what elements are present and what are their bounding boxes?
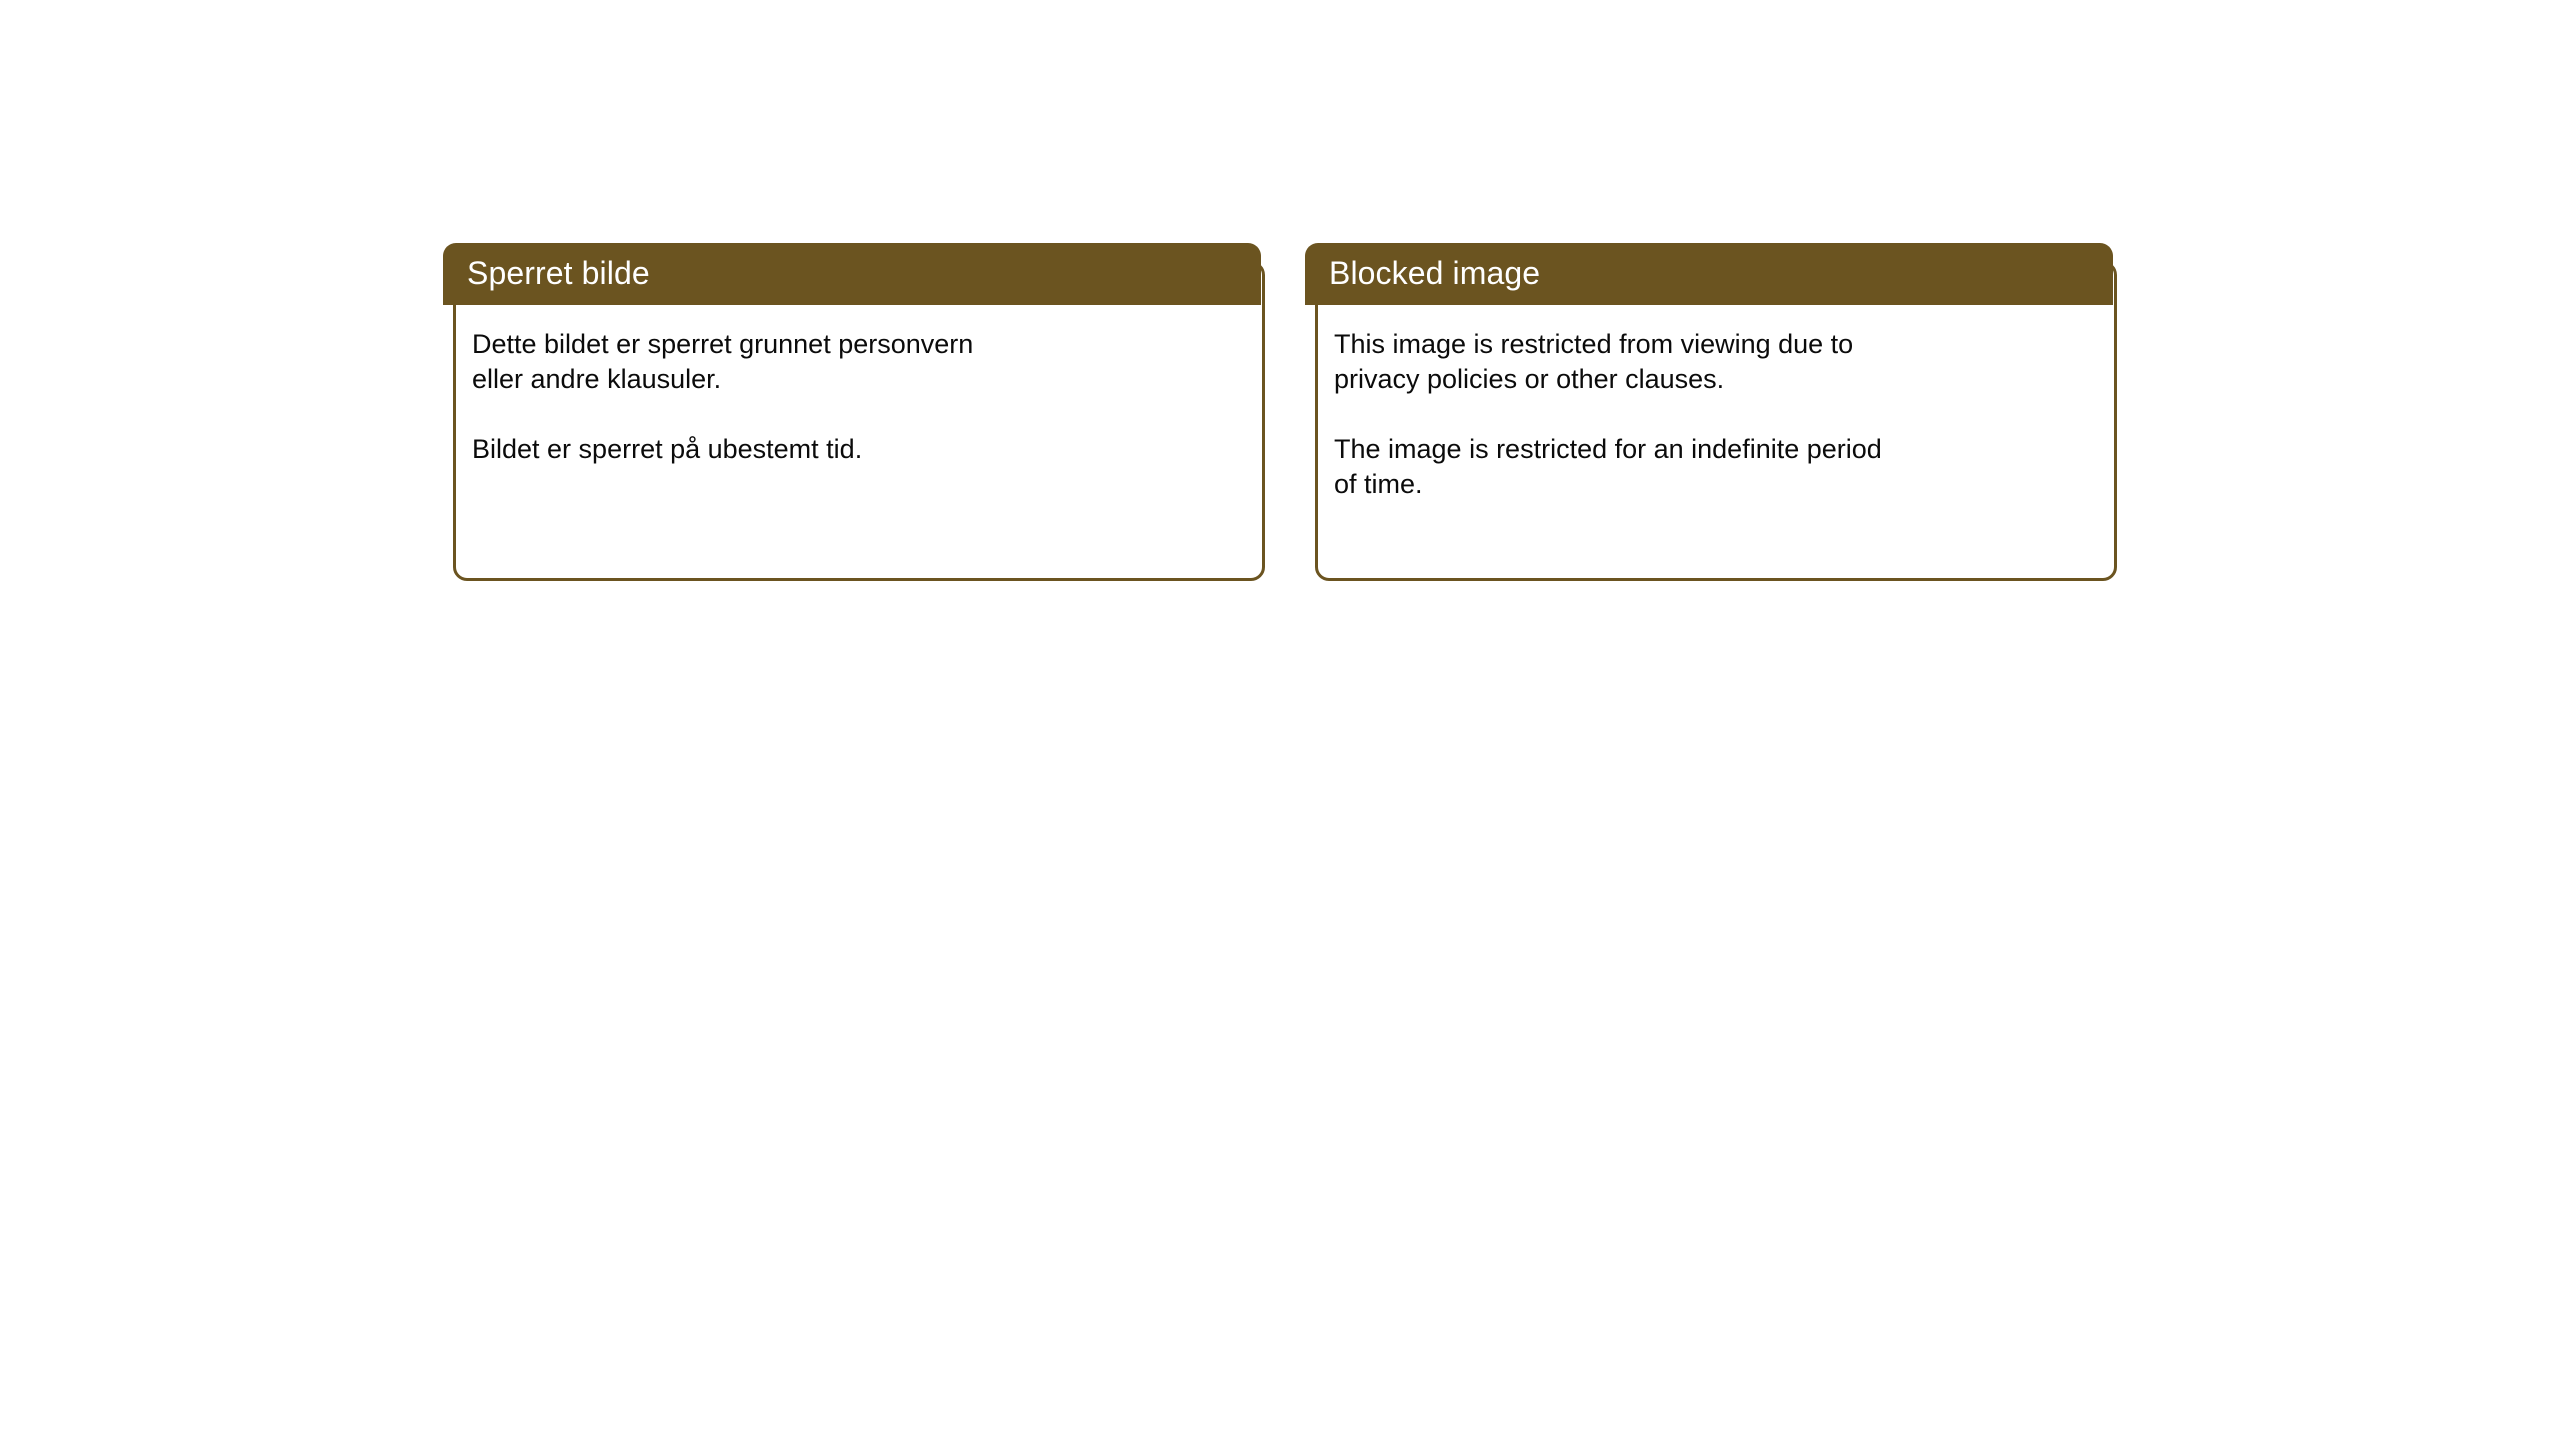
panel-paragraph-reason-english: This image is restricted from viewing du…	[1334, 327, 2094, 397]
panel-content-norwegian: Dette bildet er sperret grunnet personve…	[472, 327, 1232, 467]
blocked-image-panel-norwegian: Sperret bilde Dette bildet er sperret gr…	[448, 243, 1270, 581]
panel-title-norwegian: Sperret bilde	[467, 254, 650, 292]
panel-content-english: This image is restricted from viewing du…	[1334, 327, 2094, 502]
blocked-image-notice-screen: Sperret bilde Dette bildet er sperret gr…	[0, 0, 2560, 1440]
panel-header-bar-english: Blocked image	[1305, 243, 2113, 305]
panel-header-bar-norwegian: Sperret bilde	[443, 243, 1261, 305]
blocked-image-panel-english: Blocked image This image is restricted f…	[1310, 243, 2122, 581]
panel-paragraph-reason-norwegian: Dette bildet er sperret grunnet personve…	[472, 327, 1232, 397]
panel-paragraph-duration-english: The image is restricted for an indefinit…	[1334, 432, 2094, 502]
panel-title-english: Blocked image	[1329, 254, 1540, 292]
panel-paragraph-duration-norwegian: Bildet er sperret på ubestemt tid.	[472, 432, 1232, 467]
